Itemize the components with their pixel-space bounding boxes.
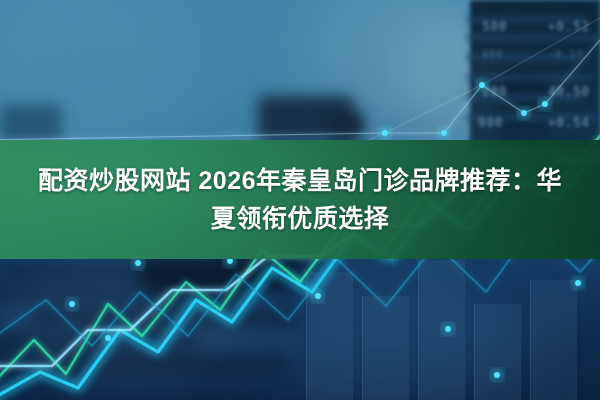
banner-image: 500 +0.52 600 -0.10 200 40.50 900 +0.54 — [0, 0, 600, 400]
headline-text: 配资炒股网站 2026年秦皇岛门诊品牌推荐：华 夏领衔优质选择 — [0, 140, 600, 259]
chart-node-10 — [445, 326, 451, 332]
chart-node-7 — [135, 260, 141, 266]
chart-node-0 — [382, 130, 388, 136]
chart-node-1 — [441, 130, 447, 136]
chart-series-node-polyline-upper — [0, 40, 600, 140]
chart-node-5 — [69, 301, 75, 307]
chart-node-3 — [521, 110, 527, 116]
chart-node-4 — [542, 101, 548, 107]
chart-node-6 — [105, 335, 111, 341]
headline-line-1: 配资炒股网站 2026年秦皇岛门诊品牌推荐：华 — [38, 165, 562, 197]
chart-node-11 — [494, 372, 500, 378]
chart-node-2 — [479, 82, 485, 88]
chart-node-9 — [315, 293, 321, 299]
headline-line-2: 夏领衔优质选择 — [211, 203, 390, 235]
chart-node-12 — [575, 280, 581, 286]
